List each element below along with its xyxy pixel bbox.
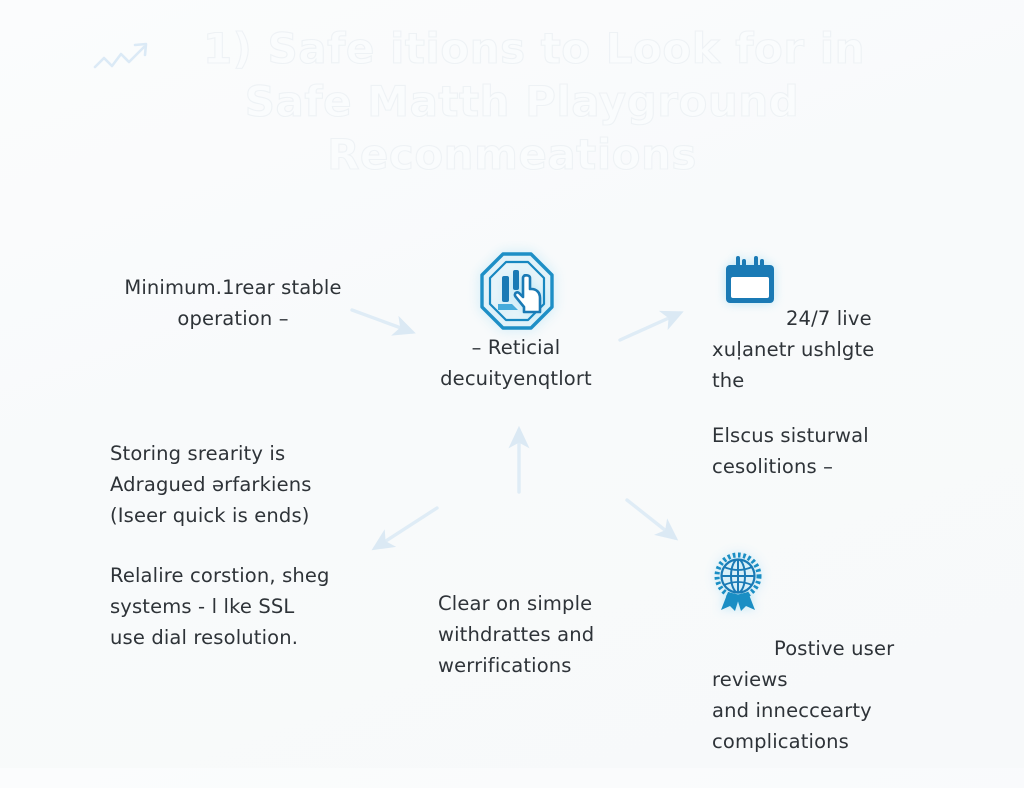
node-right-top-lead: 24/7 live (786, 307, 872, 330)
node-right-bottom: Postive user reviews and inneccearty com… (712, 602, 912, 788)
node-center-bottom-label: Clear on simple withdrattes and werrific… (438, 588, 638, 681)
node-center-top-label: – Reticial decuityenqtlort (418, 332, 614, 394)
title-line-2: Safe Matth Playground (0, 75, 1024, 128)
node-right-top-label: xuḷanetr ushlgte the (712, 334, 912, 396)
node-left-bottom-label: Relalire corstion, sheg systems - l lke … (110, 560, 370, 653)
node-left-middle-label: Storing srearity is Adragued ərfarkiens … (110, 438, 370, 531)
arrow-center-to-right-top (620, 313, 680, 340)
infographic-canvas: 1) Safe itions to Look for in Safe Matth… (0, 0, 1024, 768)
arrow-center-to-left-bottom (375, 508, 437, 548)
hand-touch-badge-icon (478, 250, 556, 332)
node-right-top: 24/7 live xuḷanetr ushlgte the (712, 272, 912, 427)
page-title: 1) Safe itions to Look for in Safe Matth… (0, 22, 1024, 181)
node-right-bottom-label: reviews and inneccearty complications (712, 664, 912, 757)
node-right-middle-label: Elscus sisturwal cesolitions – (712, 420, 912, 482)
title-line-1: 1) Safe itions to Look for in (0, 22, 1024, 75)
node-right-bottom-lead: Postive user (774, 637, 894, 660)
node-left-top-label: Minimum.1rear stable operation – (104, 272, 362, 334)
title-line-3: Reconmeations (0, 128, 1024, 181)
arrow-center-to-right-bottom (627, 500, 675, 538)
